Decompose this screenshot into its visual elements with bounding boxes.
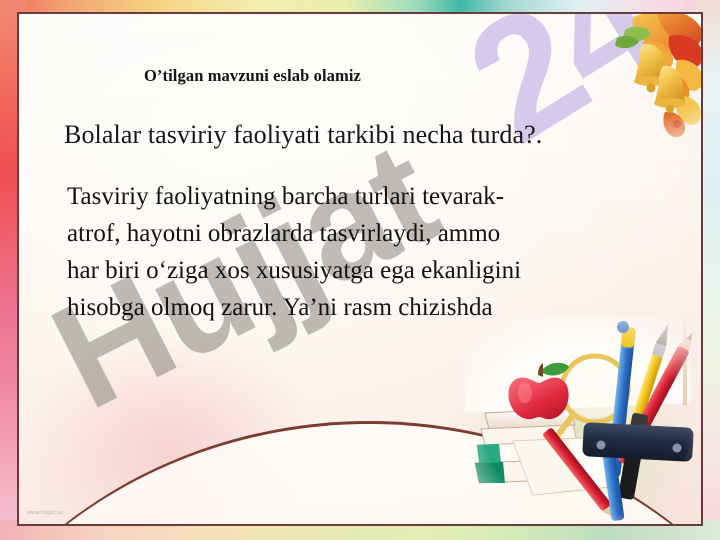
body-line: har biri o‘ziga xos xususiyatga ega ekan… xyxy=(67,252,682,289)
body-line: atrof, hayotni obrazlarda tasvirlaydi, a… xyxy=(67,215,682,252)
watermark-source-url: www.hujjat.uz xyxy=(27,510,63,516)
page-title: O’tilgan mavzuni eslab olamiz xyxy=(144,66,361,86)
slide-canvas: 24 Hujjat xyxy=(19,14,701,524)
question-text: Bolalar tasviriy faoliyati tarkibi necha… xyxy=(64,120,542,150)
body-line: hisobga olmoq zarur. Ya’ni rasm chizishd… xyxy=(67,289,682,326)
body-line: Tasviriy faoliyatning barcha turlari tev… xyxy=(67,178,682,215)
slide-text-content: O’tilgan mavzuni eslab olamiz Bolalar ta… xyxy=(19,14,701,524)
body-paragraph: Tasviriy faoliyatning barcha turlari tev… xyxy=(67,178,682,326)
presentation-slide: 24 Hujjat xyxy=(0,0,720,540)
